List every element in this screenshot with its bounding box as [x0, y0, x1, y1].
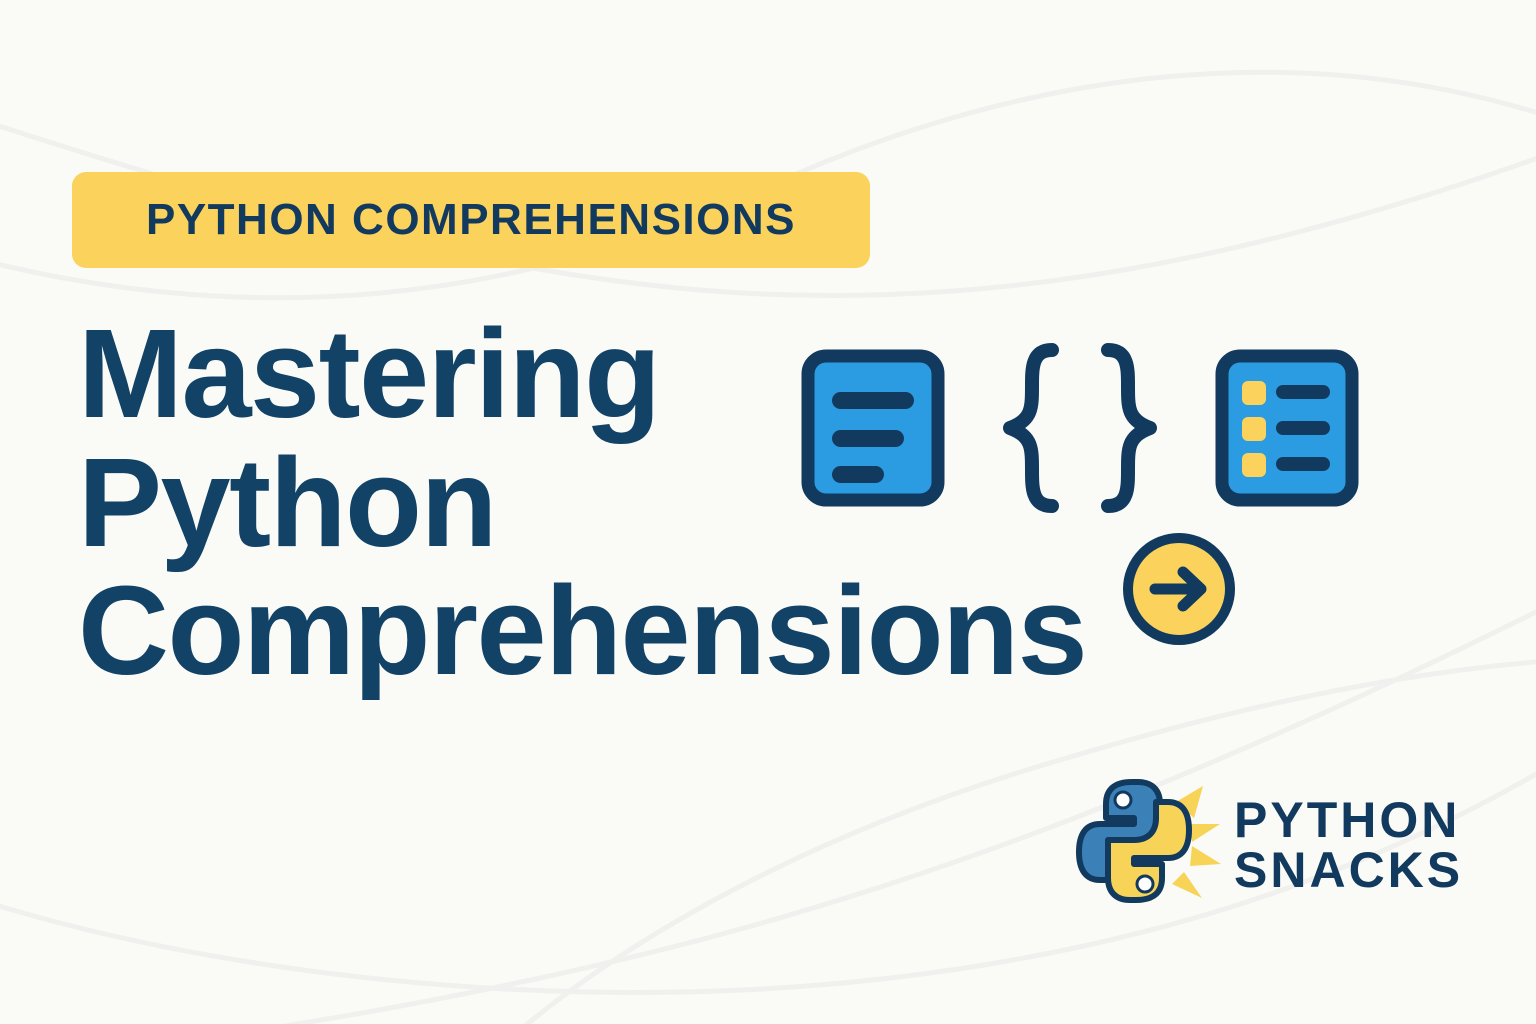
- list-checkboxes-icon: [1214, 348, 1360, 513]
- thumbnail-canvas: PYTHON COMPREHENSIONS Mastering Python C…: [0, 0, 1536, 1024]
- curly-braces-icon: [994, 338, 1166, 523]
- arrow-right-circle-icon: [1119, 529, 1239, 649]
- wordmark-line-snacks: SNACKS: [1234, 845, 1463, 895]
- python-snacks-logo-mark: [1072, 772, 1222, 917]
- python-snacks-wordmark: PYTHON SNACKS: [1234, 795, 1463, 895]
- python-snacks-logo: PYTHON SNACKS: [1072, 772, 1463, 917]
- wordmark-line-python: PYTHON: [1234, 795, 1463, 845]
- document-lines-icon: [800, 348, 946, 513]
- category-badge-label: PYTHON COMPREHENSIONS: [146, 198, 796, 242]
- category-badge: PYTHON COMPREHENSIONS: [72, 172, 870, 268]
- page-title-line-3: Comprehensions: [78, 567, 1198, 696]
- concept-icon-row: [800, 338, 1360, 523]
